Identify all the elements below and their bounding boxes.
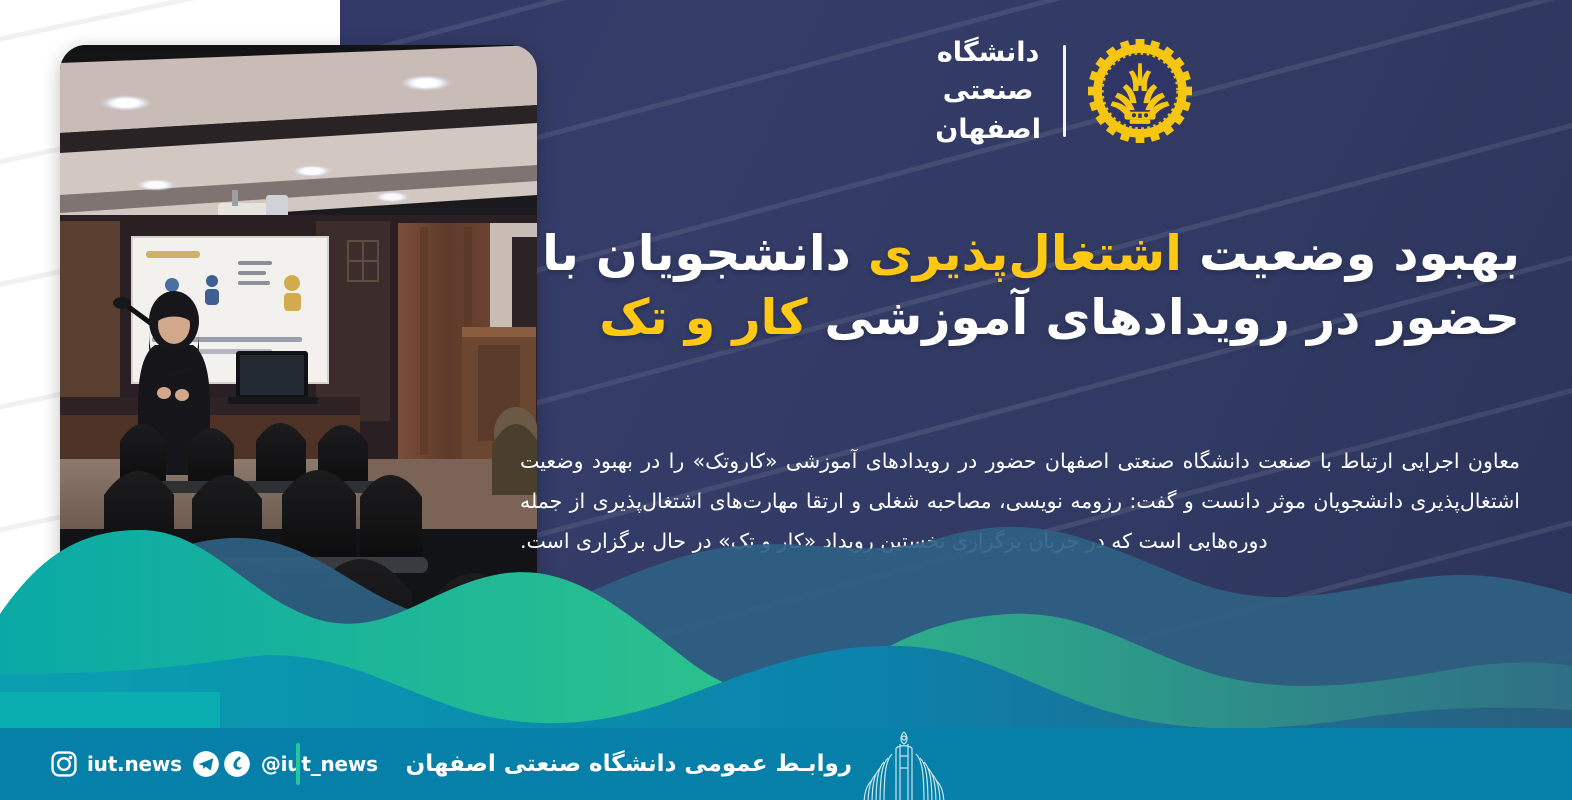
brand-divider xyxy=(1063,45,1066,137)
messenger-icon-group xyxy=(192,750,251,778)
footer-organization: روابـط عمومی دانشگاه صنعتی اصفهان xyxy=(406,751,852,777)
social-links: iut.news @iut_news xyxy=(0,728,380,800)
iut-gear-emblem-icon xyxy=(1088,39,1192,143)
brand-name: دانشگاه صنعتی اصفهان xyxy=(935,34,1041,149)
bale-icon[interactable] xyxy=(223,750,251,778)
brand-header: دانشگاه صنعتی اصفهان xyxy=(935,34,1192,149)
instagram-icon[interactable] xyxy=(50,750,78,778)
footer-separator xyxy=(296,743,300,785)
page-title: بهبود وضعیت اشتغال‌پذیری دانشجویان با حض… xyxy=(520,222,1520,349)
telegram-icon[interactable] xyxy=(192,750,220,778)
news-poster: دانشگاه صنعتی اصفهان بهبود وضعیت اشتغال‌… xyxy=(0,0,1572,800)
headline-accent-kartech: کار و تک xyxy=(599,289,807,346)
social-instagram[interactable]: iut.news xyxy=(50,750,182,778)
headline-accent-employability: اشتغال‌پذیری xyxy=(868,225,1182,282)
teal-accent-band xyxy=(0,692,220,728)
headline-line1-part2: دانشجویان با xyxy=(542,225,868,282)
article-body: معاون اجرایی ارتباط با صنعت دانشگاه صنعت… xyxy=(520,442,1520,562)
headline-line2-part1: حضور در رویدادهای آموزشی xyxy=(807,289,1520,346)
footer-bar: iut.news @iut_news روابـط عمومی دانشگاه … xyxy=(0,728,1572,800)
telegram-bale-handle[interactable]: @iut_news xyxy=(261,752,378,776)
headline-line1-part1: بهبود وضعیت xyxy=(1182,225,1520,282)
event-photo xyxy=(60,45,537,703)
instagram-handle[interactable]: iut.news xyxy=(87,752,182,776)
iut-building-outline-icon xyxy=(856,728,952,800)
